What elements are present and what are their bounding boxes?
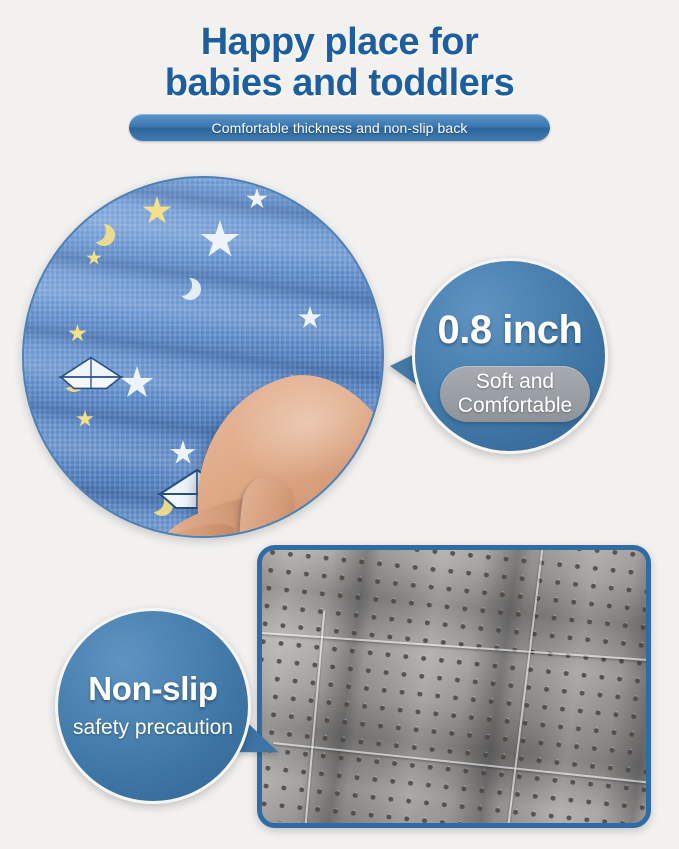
nonslip-subtitle: safety precaution <box>55 716 251 740</box>
photo-mattress-top <box>22 176 384 538</box>
pill-line-2: Comfortable <box>458 394 572 418</box>
soft-comfortable-pill: Soft and Comfortable <box>440 366 590 422</box>
thickness-value: 0.8 inch <box>412 308 608 353</box>
callout-nonslip: Non-slip safety precaution <box>55 608 305 813</box>
page-title: Happy place for babies and toddlers <box>0 22 679 104</box>
photo-mattress-bottom <box>257 545 651 828</box>
infographic-page: Happy place for babies and toddlers Comf… <box>0 0 679 849</box>
moon-icon <box>84 220 106 242</box>
moon-icon <box>170 274 192 296</box>
subtitle-banner: Comfortable thickness and non-slip back <box>129 114 550 141</box>
bubble-body <box>412 258 608 454</box>
pill-line-1: Soft and <box>476 370 554 394</box>
headline-line-1: Happy place for <box>201 21 479 63</box>
paper-boat-icon <box>56 354 126 392</box>
headline-line-2: babies and toddlers <box>0 63 679 104</box>
header: Happy place for babies and toddlers <box>0 22 679 104</box>
callout-thickness: 0.8 inch Soft and Comfortable <box>396 258 608 458</box>
nonslip-title: Non-slip <box>55 670 251 708</box>
subtitle-text: Comfortable thickness and non-slip back <box>211 120 467 136</box>
